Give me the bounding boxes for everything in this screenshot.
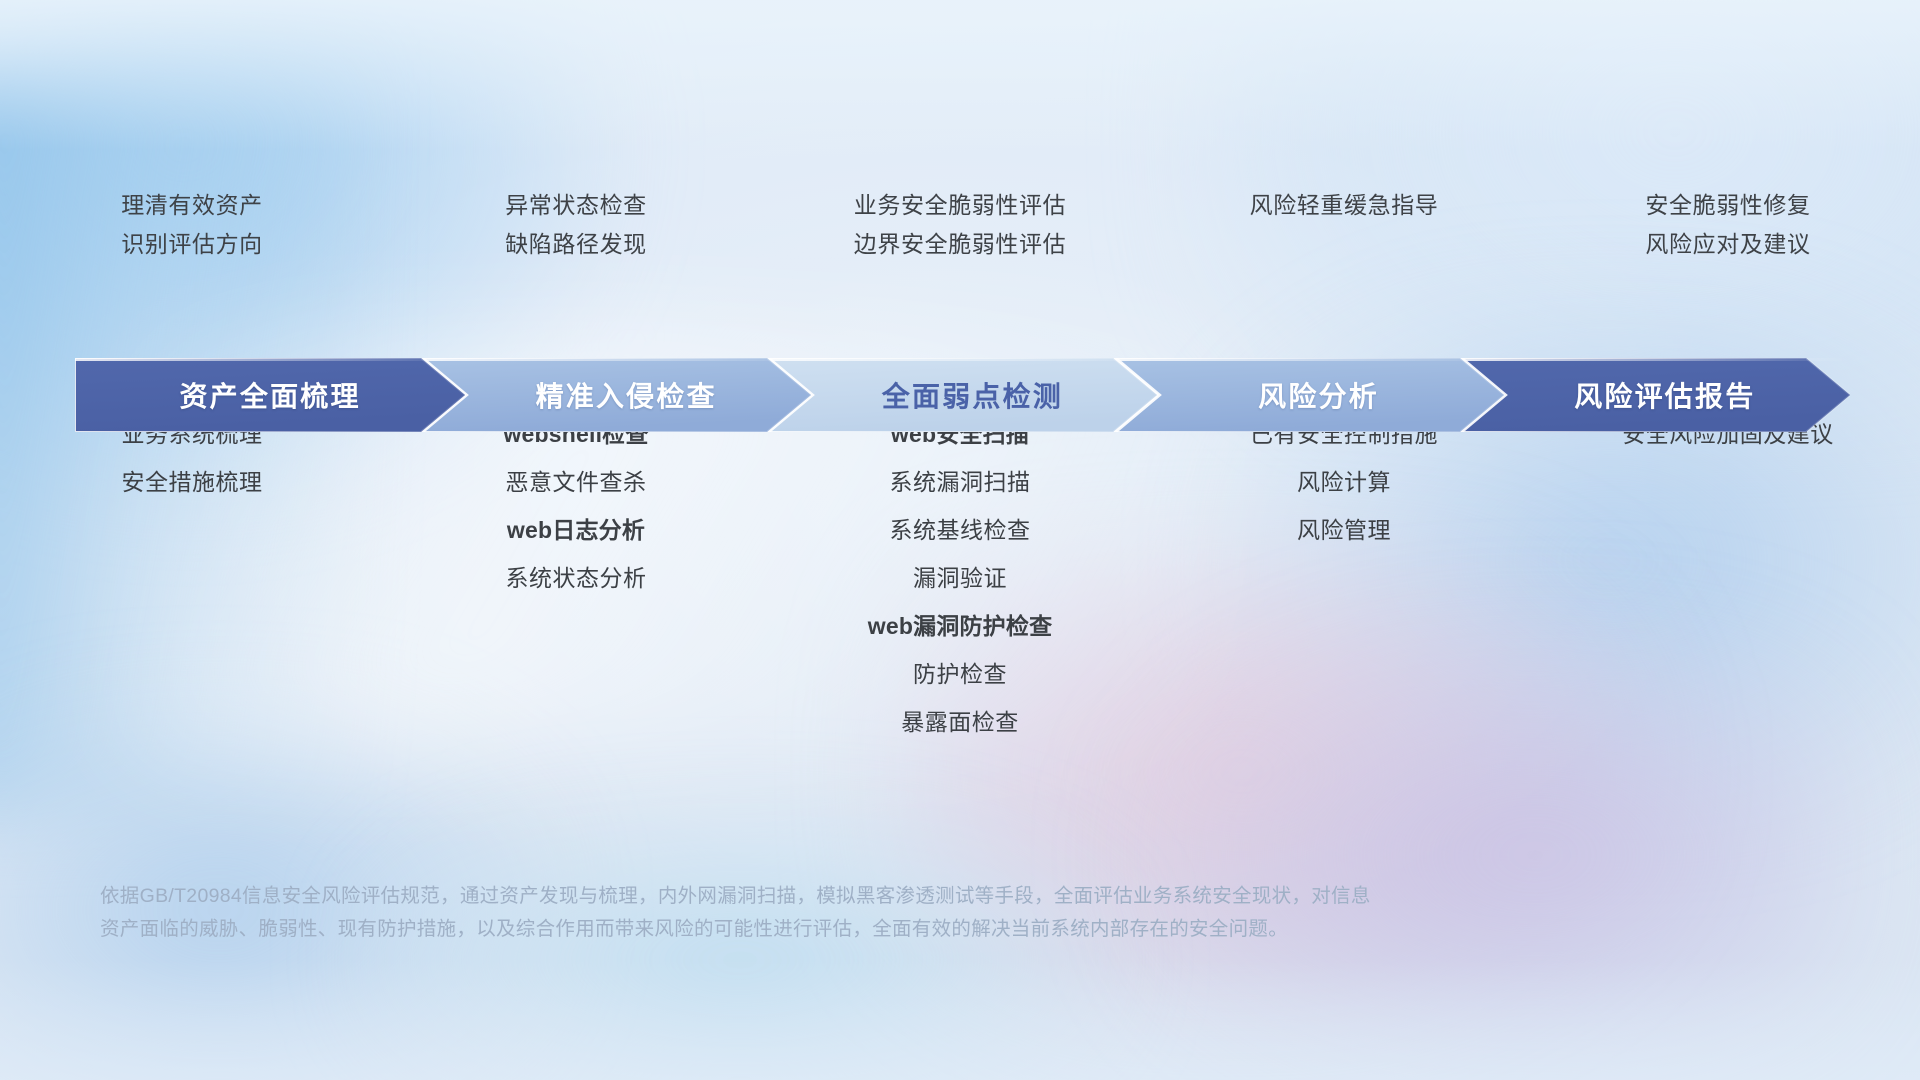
process-stage-weakness-detection[interactable]: 全面弱点检测: [767, 358, 1157, 432]
process-stage-label: 风险分析: [1258, 375, 1379, 415]
process-stage-label: 全面弱点检测: [882, 375, 1063, 415]
process-stage-risk-report[interactable]: 风险评估报告: [1460, 358, 1850, 432]
stage-bottom-items-row: 业务系统梳理安全措施梳理webshell检查恶意文件查杀web日志分析系统状态分…: [0, 410, 1920, 746]
chevron-top-gloss: [75, 358, 465, 361]
stage-top-notes-risk-report: 安全脆弱性修复风险应对及建议: [1536, 186, 1920, 286]
process-stage-intrusion-check[interactable]: 精准入侵检查: [421, 358, 811, 432]
stage-bottom-item: 系统基线检查: [890, 506, 1031, 554]
stage-top-notes-asset-inventory: 理清有效资产识别评估方向: [0, 186, 384, 286]
stage-top-note: 边界安全脆弱性评估: [854, 225, 1066, 264]
stage-top-note: 风险应对及建议: [1645, 225, 1810, 264]
stage-top-note: 业务安全脆弱性评估: [854, 186, 1066, 225]
stage-top-note: 理清有效资产: [121, 186, 263, 225]
stage-top-note: 风险轻重缓急指导: [1250, 186, 1439, 225]
stage-bottom-item: 系统漏洞扫描: [890, 458, 1031, 506]
process-flow-band: 资产全面梳理精准入侵检查全面弱点检测风险分析风险评估报告: [75, 358, 1850, 432]
stage-bottom-item: 风险管理: [1297, 506, 1391, 554]
stage-bottom-item: web日志分析: [507, 506, 645, 554]
chevron-top-gloss: [421, 358, 811, 361]
stage-bottom-items-intrusion-check: webshell检查恶意文件查杀web日志分析系统状态分析: [384, 410, 768, 602]
stage-top-notes-risk-analysis: 风险轻重缓急指导: [1152, 186, 1536, 286]
stage-bottom-item: 防护检查: [913, 650, 1007, 698]
process-stage-label: 风险评估报告: [1574, 375, 1755, 415]
chevron-top-gloss: [1460, 358, 1850, 361]
process-stage-label: 资产全面梳理: [179, 375, 360, 415]
process-stage-asset-inventory[interactable]: 资产全面梳理: [75, 358, 465, 432]
stage-top-notes-intrusion-check: 异常状态检查缺陷路径发现: [384, 186, 768, 286]
footer-line-2: 资产面临的威胁、脆弱性、现有防护措施，以及综合作用而带来风险的可能性进行评估，全…: [100, 913, 1620, 946]
process-stage-label: 精准入侵检查: [536, 375, 717, 415]
chevron-top-gloss: [1114, 358, 1504, 361]
stage-top-notes-row: 理清有效资产识别评估方向异常状态检查缺陷路径发现业务安全脆弱性评估边界安全脆弱性…: [0, 186, 1920, 286]
footer-line-1: 依据GB/T20984信息安全风险评估规范，通过资产发现与梳理，内外网漏洞扫描，…: [100, 880, 1620, 913]
stage-bottom-items-weakness-detection: web安全扫描系统漏洞扫描系统基线检查漏洞验证web漏洞防护检查防护检查暴露面检…: [768, 410, 1152, 746]
chevron-top-gloss: [767, 358, 1157, 361]
stage-bottom-item: web漏洞防护检查: [868, 602, 1053, 650]
stage-top-note: 异常状态检查: [505, 186, 647, 225]
stage-bottom-item: 安全措施梳理: [122, 458, 263, 506]
process-stage-risk-analysis[interactable]: 风险分析: [1114, 358, 1504, 432]
stage-top-notes-weakness-detection: 业务安全脆弱性评估边界安全脆弱性评估: [768, 186, 1152, 286]
stage-bottom-item: 风险计算: [1297, 458, 1391, 506]
stage-bottom-item: 暴露面检查: [901, 698, 1019, 746]
stage-bottom-item: 系统状态分析: [506, 554, 647, 602]
stage-bottom-item: 恶意文件查杀: [506, 458, 647, 506]
stage-top-note: 安全脆弱性修复: [1645, 186, 1810, 225]
stage-top-note: 识别评估方向: [121, 225, 263, 264]
stage-bottom-item: 漏洞验证: [913, 554, 1007, 602]
stage-top-note: 缺陷路径发现: [505, 225, 647, 264]
footer-description: 依据GB/T20984信息安全风险评估规范，通过资产发现与梳理，内外网漏洞扫描，…: [100, 880, 1620, 946]
